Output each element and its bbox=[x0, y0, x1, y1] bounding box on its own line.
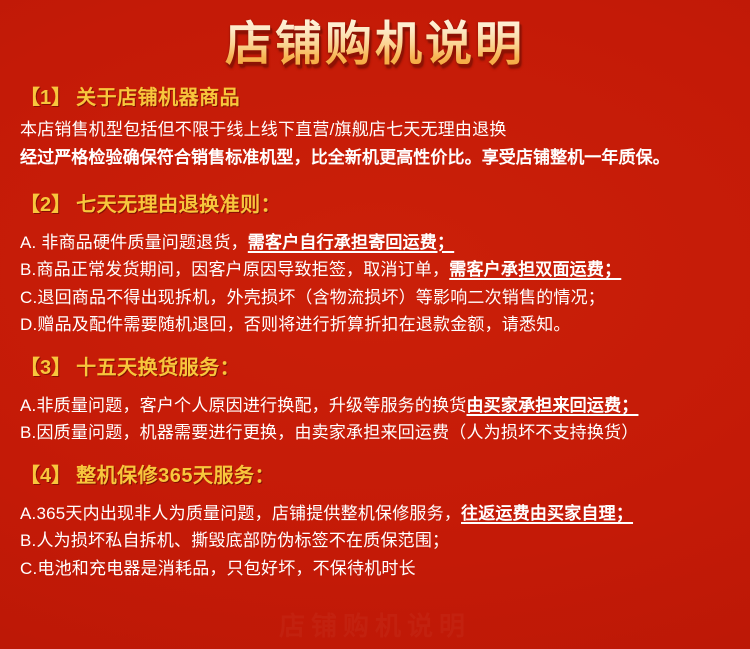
line-text: A.365天内出现非人为质量问题，店铺提供整机保修服务， bbox=[20, 504, 461, 523]
section-heading-text-1: 关于店铺机器商品 bbox=[76, 87, 240, 109]
section-heading-text-2: 七天无理由退换准则： bbox=[76, 194, 281, 216]
line-text: B.因质量问题，机器需要进行更换，由卖家承担来回运费（人为损坏不支持换货） bbox=[20, 423, 638, 442]
policy-section-1: 【1】关于店铺机器商品本店销售机型包括但不限于线上线下直营/旗舰店七天无理由退换… bbox=[20, 83, 732, 171]
line-text: 本店销售机型包括但不限于线上线下直营/旗舰店七天无理由退换 bbox=[20, 120, 507, 139]
line-text: B.商品正常发货期间，因客户原因导致拒签，取消订单， bbox=[20, 260, 449, 279]
line-text: C.电池和充电器是消耗品，只包好坏，不保待机时长 bbox=[20, 559, 416, 578]
section-heading-text-4: 整机保修365天服务： bbox=[76, 465, 275, 487]
policy-line: B.商品正常发货期间，因客户原因导致拒签，取消订单，需客户承担双面运费； bbox=[20, 256, 732, 284]
policy-line: C.电池和充电器是消耗品，只包好坏，不保待机时长 bbox=[20, 555, 732, 583]
section-number-1: 【1】 bbox=[20, 87, 71, 109]
title-container: 店铺购机说明 bbox=[0, 0, 750, 71]
section-heading-1: 【1】关于店铺机器商品 bbox=[20, 83, 732, 113]
policy-line: A. 非商品硬件质量问题退货，需客户自行承担寄回运费； bbox=[20, 229, 732, 257]
line-text: D.赠品及配件需要随机退回，否则将进行折算折扣在退款金额，请悉知。 bbox=[20, 315, 571, 334]
emphasized-text: 往返运费由买家自理； bbox=[461, 504, 633, 523]
policy-section-2: 【2】七天无理由退换准则：A. 非商品硬件质量问题退货，需客户自行承担寄回运费；… bbox=[20, 190, 732, 339]
policy-section-3: 【3】十五天换货服务：A.非质量问题，客户个人原因进行换配，升级等服务的换货由买… bbox=[20, 353, 732, 447]
watermark-text: 店铺购机说明 bbox=[0, 606, 750, 643]
line-text: 经过严格检验确保符合销售标准机型，比全新机更高性价比。享受店铺整机一年质保。 bbox=[20, 148, 670, 167]
policy-line: 本店销售机型包括但不限于线上线下直营/旗舰店七天无理由退换 bbox=[20, 116, 732, 144]
policy-sections: 【1】关于店铺机器商品本店销售机型包括但不限于线上线下直营/旗舰店七天无理由退换… bbox=[0, 71, 750, 582]
emphasized-text: 需客户自行承担寄回运费； bbox=[248, 233, 454, 252]
policy-line: A.365天内出现非人为质量问题，店铺提供整机保修服务，往返运费由买家自理； bbox=[20, 500, 732, 528]
section-number-2: 【2】 bbox=[20, 194, 71, 216]
section-heading-text-3: 十五天换货服务： bbox=[76, 357, 240, 379]
section-heading-2: 【2】七天无理由退换准则： bbox=[20, 190, 732, 220]
policy-line: A.非质量问题，客户个人原因进行换配，升级等服务的换货由买家承担来回运费； bbox=[20, 392, 732, 420]
policy-line: B.因质量问题，机器需要进行更换，由卖家承担来回运费（人为损坏不支持换货） bbox=[20, 419, 732, 447]
section-number-4: 【4】 bbox=[20, 465, 71, 487]
policy-line: B.人为损坏私自拆机、撕毁底部防伪标签不在质保范围； bbox=[20, 527, 732, 555]
page-title: 店铺购机说明 bbox=[225, 16, 525, 71]
line-text: B.人为损坏私自拆机、撕毁底部防伪标签不在质保范围； bbox=[20, 531, 449, 550]
policy-line: D.赠品及配件需要随机退回，否则将进行折算折扣在退款金额，请悉知。 bbox=[20, 311, 732, 339]
policy-line: C.退回商品不得出现拆机，外壳损坏（含物流损坏）等影响二次销售的情况； bbox=[20, 284, 732, 312]
section-number-3: 【3】 bbox=[20, 357, 71, 379]
line-text: A. 非商品硬件质量问题退货， bbox=[20, 233, 248, 252]
line-text: C.退回商品不得出现拆机，外壳损坏（含物流损坏）等影响二次销售的情况； bbox=[20, 288, 605, 307]
line-text: A.非质量问题，客户个人原因进行换配，升级等服务的换货 bbox=[20, 396, 466, 415]
store-purchase-policy-banner: 店铺购机说明 【1】关于店铺机器商品本店销售机型包括但不限于线上线下直营/旗舰店… bbox=[0, 0, 750, 649]
section-heading-3: 【3】十五天换货服务： bbox=[20, 353, 732, 383]
policy-section-4: 【4】整机保修365天服务：A.365天内出现非人为质量问题，店铺提供整机保修服… bbox=[20, 461, 732, 583]
policy-line: 经过严格检验确保符合销售标准机型，比全新机更高性价比。享受店铺整机一年质保。 bbox=[20, 144, 732, 172]
section-heading-4: 【4】整机保修365天服务： bbox=[20, 461, 732, 491]
emphasized-text: 由买家承担来回运费； bbox=[466, 396, 638, 415]
emphasized-text: 需客户承担双面运费； bbox=[449, 260, 621, 279]
